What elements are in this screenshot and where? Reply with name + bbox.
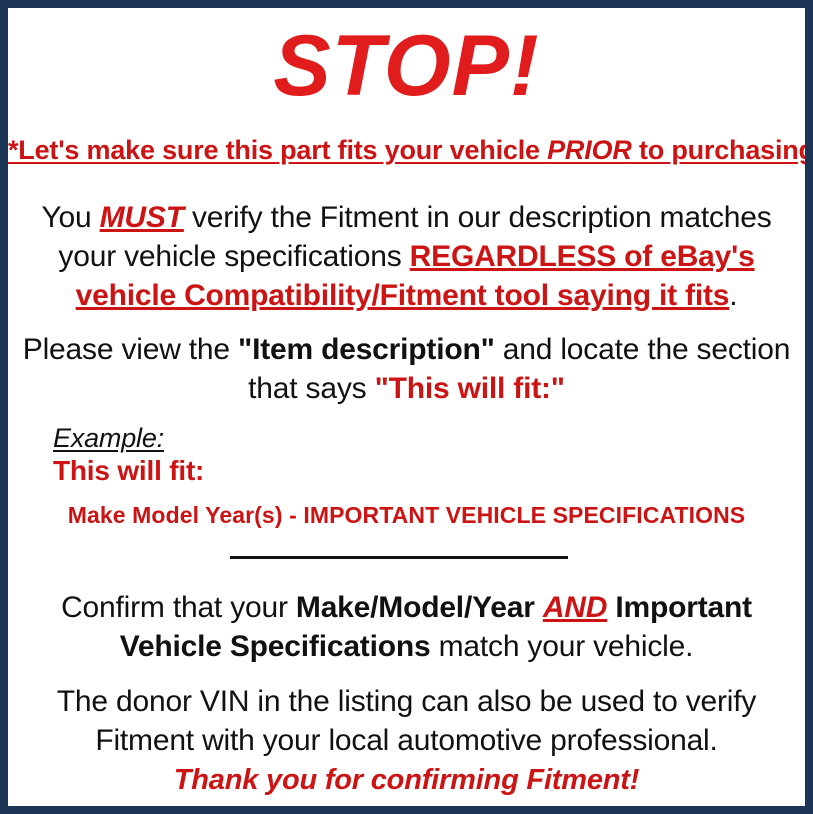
item-description-emphasis: "Item description" — [238, 333, 495, 366]
fitment-notice-card: STOP! *Let's make sure this part fits yo… — [0, 0, 813, 814]
itemdesc-seg1: Please view the — [23, 333, 238, 366]
this-will-fit-emphasis: "This will fit:" — [375, 372, 565, 405]
notice-content-area: STOP! *Let's make sure this part fits yo… — [8, 8, 805, 806]
example-this-will-fit: This will fit: — [53, 454, 204, 488]
tagline-after: to purchasing* — [632, 135, 805, 165]
example-label: Example: — [53, 422, 164, 454]
and-emphasis: AND — [543, 591, 607, 624]
section-divider — [230, 556, 568, 559]
make-model-year-emphasis: Make/Model/Year — [296, 591, 535, 624]
tagline-prior-emphasis: PRIOR — [547, 135, 632, 165]
tagline-before: *Let's make sure this part fits your veh… — [8, 135, 547, 165]
confirm-seg2 — [535, 591, 543, 624]
paragraph-item-description: Please view the "Item description" and l… — [22, 330, 791, 408]
confirm-seg1: Confirm that your — [61, 591, 296, 624]
must-emphasis: MUST — [100, 201, 184, 234]
confirm-seg4: match your vehicle. — [430, 630, 693, 663]
must-seg3: . — [729, 279, 737, 312]
thank-you-line: Thank you for confirming Fitment! — [8, 762, 805, 798]
stop-headline: STOP! — [8, 18, 805, 114]
paragraph-must-verify: You MUST verify the Fitment in our descr… — [26, 198, 787, 315]
must-seg1: You — [41, 201, 99, 234]
paragraph-confirm: Confirm that your Make/Model/Year AND Im… — [26, 588, 787, 666]
paragraph-donor-vin: The donor VIN in the listing can also be… — [26, 682, 787, 760]
tagline: *Let's make sure this part fits your veh… — [8, 133, 805, 167]
example-specification-line: Make Model Year(s) - IMPORTANT VEHICLE S… — [8, 500, 805, 530]
